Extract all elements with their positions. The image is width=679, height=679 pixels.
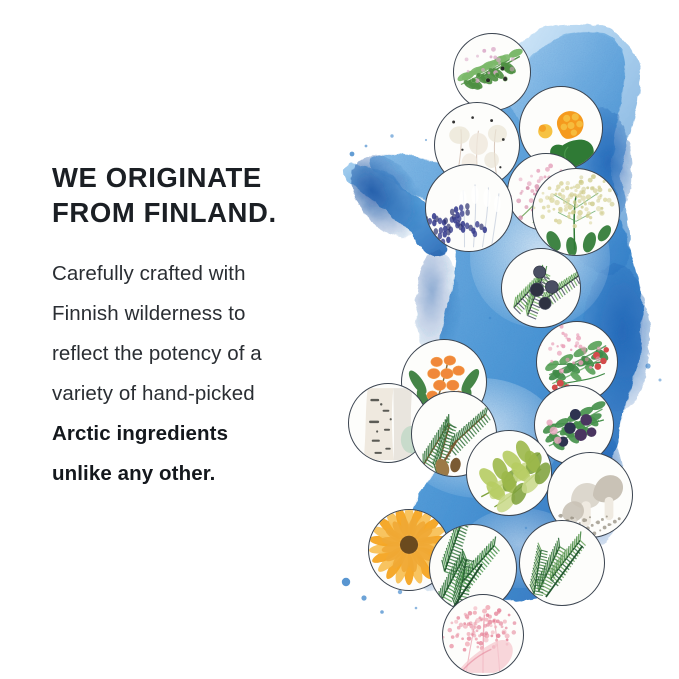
willowherb-circle[interactable]	[442, 594, 524, 676]
fir-needle-circle[interactable]	[519, 520, 605, 606]
body-line-6: unlike any other.	[52, 454, 352, 494]
meadowsweet-circle[interactable]	[532, 168, 620, 256]
body-line-3: reflect the potency of a	[52, 334, 352, 374]
headline-line-2: FROM FINLAND.	[52, 195, 352, 230]
body-line-5: Arctic ingredients	[52, 414, 352, 454]
body-line-2: Finnish wilderness to	[52, 294, 352, 334]
rowan-leaf-circle[interactable]	[466, 430, 552, 516]
text-panel: WE ORIGINATE FROM FINLAND. Carefully cra…	[52, 160, 352, 494]
headline-line-1: WE ORIGINATE	[52, 160, 352, 195]
page-title: WE ORIGINATE FROM FINLAND.	[52, 160, 352, 230]
poster-canvas: WE ORIGINATE FROM FINLAND. Carefully cra…	[0, 0, 679, 679]
juniper-berry-circle[interactable]	[501, 248, 581, 328]
body-line-4: variety of hand-picked	[52, 374, 352, 414]
body-copy: Carefully crafted with Finnish wildernes…	[52, 230, 352, 494]
crowberry-heather-circle[interactable]	[453, 33, 531, 111]
body-line-1: Carefully crafted with	[52, 254, 352, 294]
oat-grain-circle[interactable]	[425, 164, 513, 252]
